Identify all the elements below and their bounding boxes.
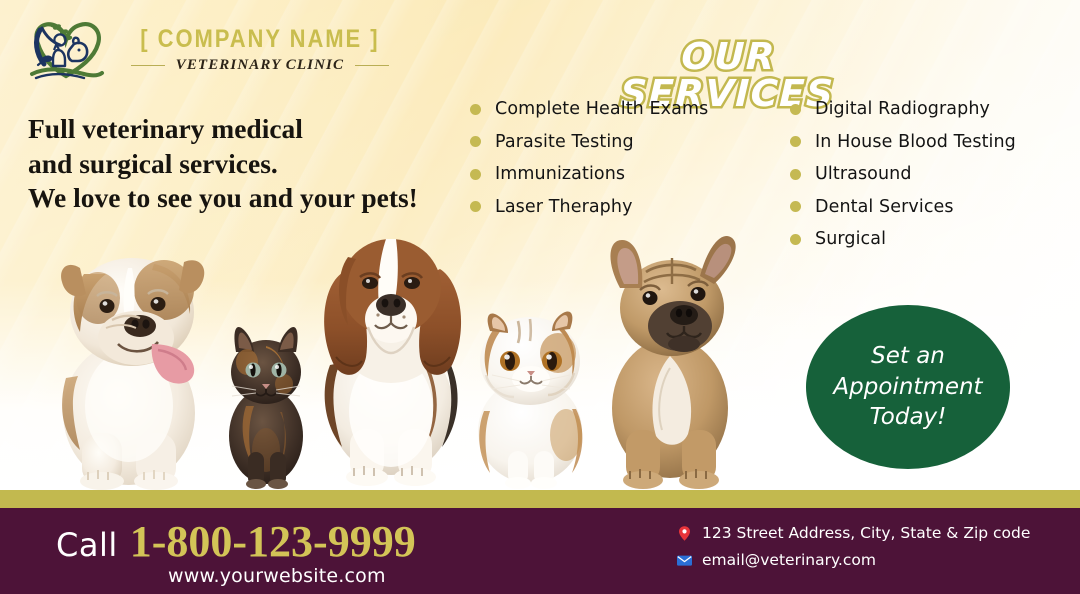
call-row: Call 1-800-123-9999 xyxy=(56,520,416,564)
service-label: In House Blood Testing xyxy=(815,132,1016,152)
service-label: Ultrasound xyxy=(815,164,912,184)
address-text: 123 Street Address, City, State & Zip co… xyxy=(702,524,1030,542)
tagline-line-2: and surgical services. xyxy=(28,147,448,182)
brand-logo-block: [ COMPANY NAME ] VETERINARY CLINIC xyxy=(22,14,396,86)
envelope-icon xyxy=(676,552,693,569)
location-pin-icon xyxy=(676,525,693,542)
service-label: Digital Radiography xyxy=(815,99,990,119)
service-item: Ultrasound xyxy=(790,158,1070,191)
brand-text: [ COMPANY NAME ] VETERINARY CLINIC xyxy=(124,26,396,74)
bullet-icon xyxy=(470,169,481,180)
service-item: Digital Radiography xyxy=(790,93,1070,126)
company-name: [ COMPANY NAME ] xyxy=(140,26,379,52)
pet-photo-exotic-shorthair-cat xyxy=(464,295,596,490)
email-row: email@veterinary.com xyxy=(676,551,1030,569)
footer-bar: Call 1-800-123-9999 www.yourwebsite.com … xyxy=(0,508,1080,594)
service-item: In House Blood Testing xyxy=(790,126,1070,159)
olive-divider-band xyxy=(0,490,1080,508)
bullet-icon xyxy=(470,136,481,147)
email-text[interactable]: email@veterinary.com xyxy=(702,551,876,569)
phone-number[interactable]: 1-800-123-9999 xyxy=(130,520,416,564)
veterinary-clinic-flyer: [ COMPANY NAME ] VETERINARY CLINIC Full … xyxy=(0,0,1080,594)
clinic-subtitle: VETERINARY CLINIC xyxy=(176,57,344,74)
rule-left xyxy=(131,65,165,67)
contact-block: 123 Street Address, City, State & Zip co… xyxy=(676,524,1030,569)
service-item: Immunizations xyxy=(470,158,750,191)
service-label: Immunizations xyxy=(495,164,625,184)
bullet-icon xyxy=(790,169,801,180)
clinic-subtitle-row: VETERINARY CLINIC xyxy=(131,57,389,74)
service-item: Complete Health Exams xyxy=(470,93,750,126)
bullet-icon xyxy=(790,104,801,115)
pet-photo-french-bulldog xyxy=(588,222,752,490)
heart-dog-cat-bird-logo-icon xyxy=(22,14,110,86)
bullet-icon xyxy=(790,136,801,147)
service-label: Complete Health Exams xyxy=(495,99,708,119)
service-item: Parasite Testing xyxy=(470,126,750,159)
rule-right xyxy=(355,65,389,67)
pet-photo-basset-hound xyxy=(300,215,482,490)
service-label: Parasite Testing xyxy=(495,132,634,152)
tagline-line-1: Full veterinary medical xyxy=(28,112,448,147)
address-row: 123 Street Address, City, State & Zip co… xyxy=(676,524,1030,542)
website-url[interactable]: www.yourwebsite.com xyxy=(168,565,386,587)
pet-photo-english-bulldog xyxy=(36,228,226,490)
call-label: Call xyxy=(56,526,118,564)
pets-photo-group xyxy=(0,200,1080,490)
bullet-icon xyxy=(470,104,481,115)
